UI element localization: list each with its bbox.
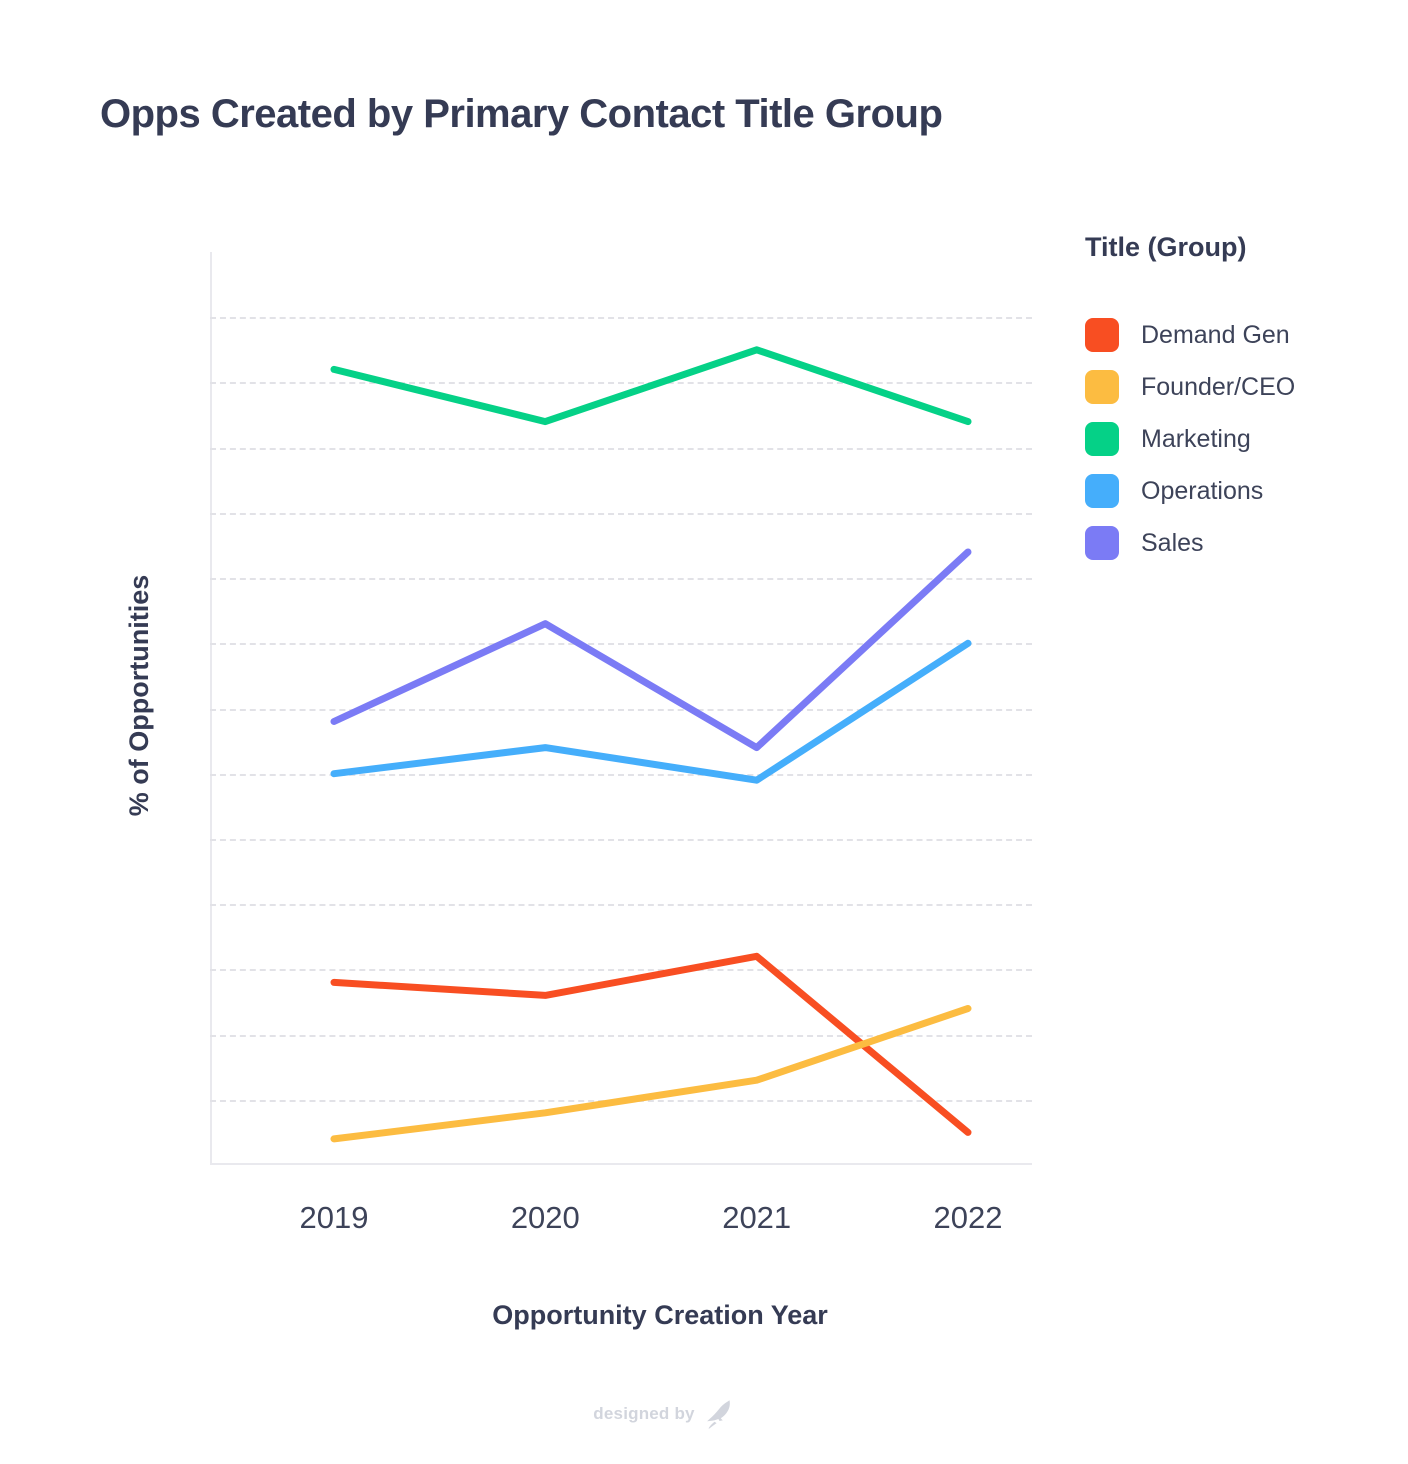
designed-by-watermark: designed by [0, 1398, 1368, 1430]
legend-item[interactable]: Founder/CEO [1085, 361, 1385, 413]
line-series-operations [334, 643, 968, 780]
legend-item-label: Sales [1141, 529, 1204, 558]
legend-items: Demand GenFounder/CEOMarketingOperations… [1085, 309, 1385, 569]
legend-item[interactable]: Marketing [1085, 413, 1385, 465]
legend-swatch-icon [1085, 318, 1119, 352]
legend-item-label: Demand Gen [1141, 321, 1290, 350]
x-tick-label: 2019 [300, 1200, 369, 1236]
designed-by-label: designed by [593, 1404, 694, 1424]
y-axis-title-label: % of Opportunities [125, 574, 156, 815]
x-axis-title-label: Opportunity Creation Year [492, 1300, 828, 1331]
x-tick-label: 2021 [722, 1200, 791, 1236]
legend-swatch-icon [1085, 526, 1119, 560]
line-series-sales [334, 552, 968, 748]
legend-item-label: Marketing [1141, 425, 1251, 454]
legend-title: Title (Group) [1085, 232, 1385, 263]
x-tick-label: 2020 [511, 1200, 580, 1236]
legend-item-label: Founder/CEO [1141, 373, 1295, 402]
line-series-svg [210, 252, 1032, 1165]
legend-item[interactable]: Sales [1085, 517, 1385, 569]
quill-icon [705, 1398, 735, 1430]
y-axis-title: % of Opportunities [112, 520, 168, 870]
chart-card: Opps Created by Primary Contact Title Gr… [0, 0, 1408, 1464]
legend-swatch-icon [1085, 370, 1119, 404]
legend-item[interactable]: Operations [1085, 465, 1385, 517]
legend-swatch-icon [1085, 422, 1119, 456]
x-axis-title: Opportunity Creation Year [0, 1300, 1408, 1331]
page-title: Opps Created by Primary Contact Title Gr… [100, 92, 942, 137]
legend-item[interactable]: Demand Gen [1085, 309, 1385, 361]
x-tick-label: 2022 [934, 1200, 1003, 1236]
plot-area [210, 252, 1032, 1165]
x-axis-ticks: 2019202020212022 [210, 1200, 1032, 1246]
legend-item-label: Operations [1141, 477, 1263, 506]
legend-swatch-icon [1085, 474, 1119, 508]
line-series-founder-ceo [334, 1009, 968, 1139]
line-series-marketing [334, 350, 968, 422]
legend: Title (Group) Demand GenFounder/CEOMarke… [1085, 232, 1385, 569]
